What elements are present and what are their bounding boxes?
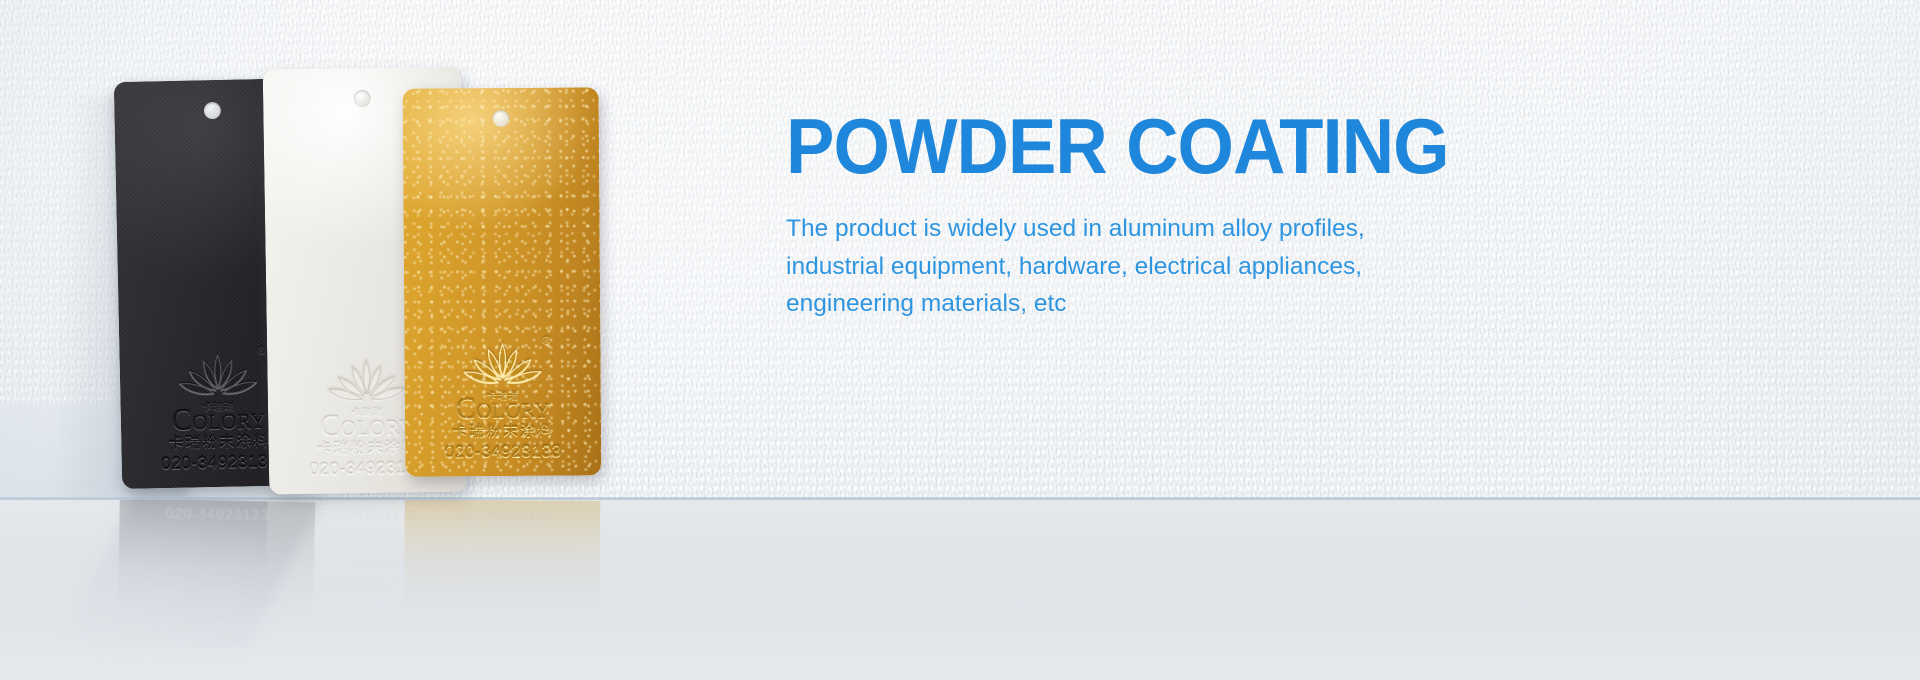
subtitle-line-3: engineering materials, etc <box>786 285 1746 322</box>
brand-cn-small-gold: 卡瑞瑞 <box>486 392 519 402</box>
coating-sample-panels: ® 卡瑞瑞 Colory 卡瑞粉末涂料 020-34923133 <box>0 0 780 680</box>
registered-trademark-icon: ® <box>257 346 265 357</box>
brand-cn-black: 卡瑞粉末涂料 <box>168 433 270 452</box>
subtitle-line-1: The product is widely used in aluminum a… <box>786 210 1746 247</box>
brand-cn-white: 卡瑞粉末涂料 <box>317 440 419 459</box>
hang-hole-icon <box>204 102 221 119</box>
brand-name-black: Colory <box>171 403 266 436</box>
hang-hole-icon <box>492 110 509 127</box>
registered-trademark-icon: ® <box>542 336 550 347</box>
brand-emboss-gold: ® 卡瑞瑞 Colory 卡瑞粉末涂料 020-34923133 <box>404 337 601 463</box>
lotus-flower-icon: ® <box>322 354 411 413</box>
lotus-flower-icon: ® <box>173 348 262 408</box>
subtitle-line-2: industrial equipment, hardware, electric… <box>786 248 1746 285</box>
brand-cn-small-black: 卡瑞瑞 <box>202 402 235 413</box>
brand-name-gold: Colory <box>456 393 550 425</box>
banner-copy: POWDER COATING The product is widely use… <box>786 108 1746 322</box>
banner-subtitle: The product is widely used in aluminum a… <box>786 210 1746 322</box>
brand-phone-black: 020-34923133 <box>161 451 278 474</box>
brand-cn-gold: 卡瑞粉末涂料 <box>452 423 554 441</box>
powder-coating-banner: 020-34923133 020-34923133 020-34923133 <box>0 0 1920 680</box>
brand-phone-gold: 020-34923133 <box>445 441 562 462</box>
lotus-flower-icon: ® <box>458 338 546 397</box>
page-title: POWDER COATING <box>786 108 1679 184</box>
hang-hole-icon <box>354 90 371 107</box>
brand-name-white: Colory <box>320 409 415 442</box>
sample-panel-gold[interactable]: ® 卡瑞瑞 Colory 卡瑞粉末涂料 020-34923133 <box>403 87 602 476</box>
